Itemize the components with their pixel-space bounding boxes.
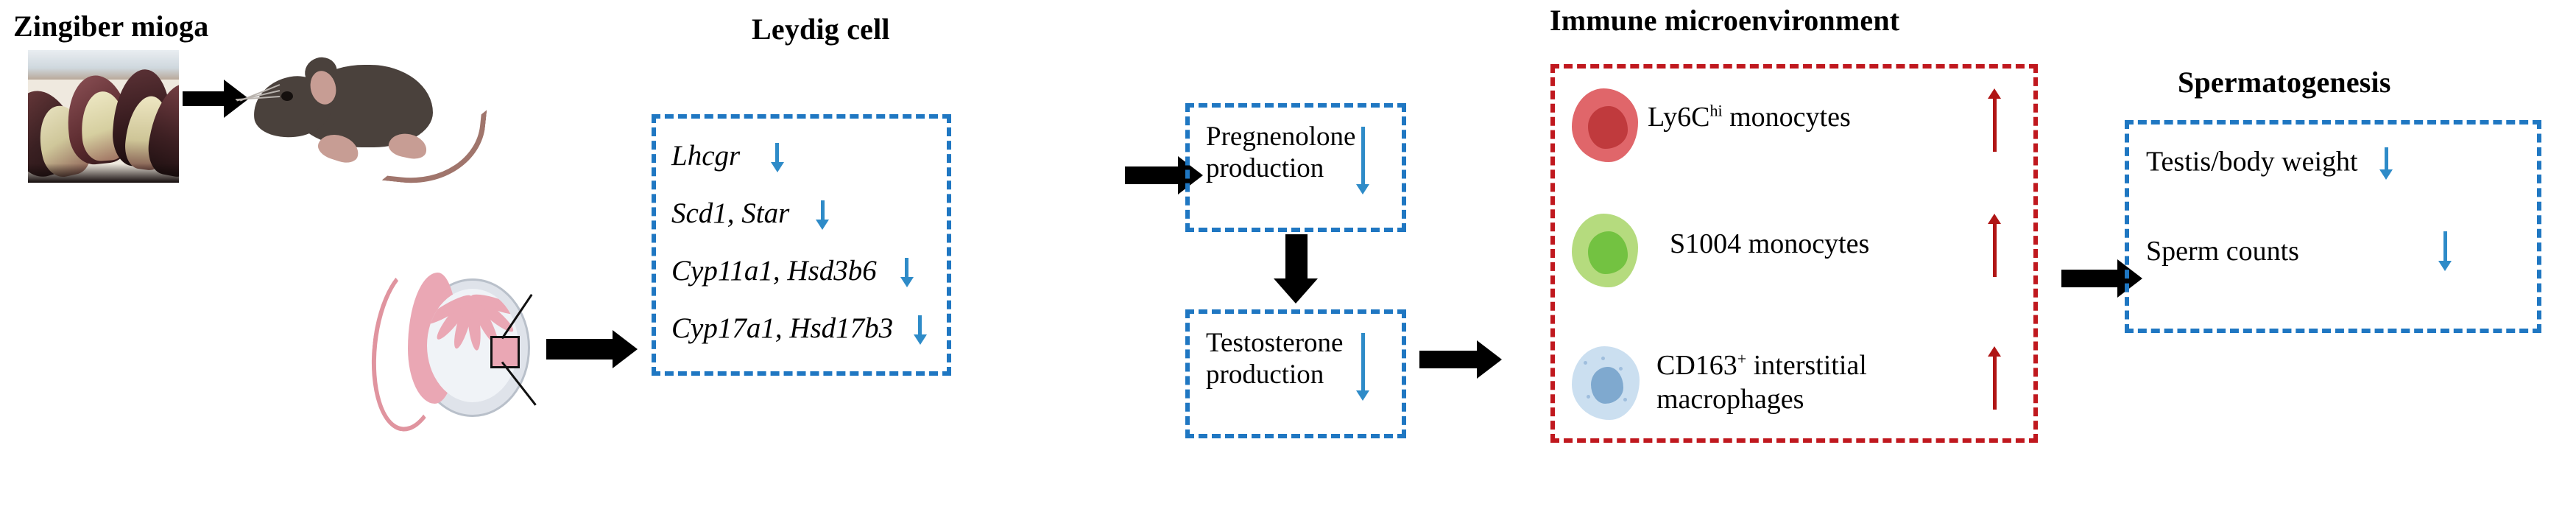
testis-illustration [367,243,551,464]
pregnenolone-line1: Pregnenolone [1206,122,1355,152]
down-arrow-icon [914,315,927,346]
cd163-macrophage-cell-icon [1572,346,1640,420]
figure-canvas: Zingiber mioga [0,0,2576,512]
leydig-row: Lhcgr [671,141,784,174]
immune-row-label-tail: interstitial [1746,350,1867,381]
immune-row-label: Ly6Chi monocytes [1648,103,1851,131]
heading-zingiber-mioga: Zingiber mioga [13,9,208,43]
spermatogenesis-row: Testis/body weight [2146,147,2393,181]
testosterone-line1: Testosterone [1206,328,1343,358]
up-arrow-icon [1988,346,2001,410]
s1004-monocyte-cell-icon [1572,214,1638,287]
leydig-row-genes: Cyp17a1, Hsd17b3 [671,312,893,344]
leydig-row: Cyp17a1, Hsd17b3 [671,314,927,346]
spermatogenesis-row: Sperm counts [2146,237,2299,265]
pregnenolone-line2: production [1206,153,1324,183]
immune-row-label: CD163+ interstitial macrophages [1656,349,1867,416]
mouse-eye [281,91,293,101]
leydig-row-genes: Scd1, Star [671,197,789,229]
arrow-testosterone-to-immune [1419,340,1506,379]
immune-row-label-main: S1004 monocytes [1670,228,1869,259]
immune-row-up-arrow-wrap [1988,88,2001,152]
leydig-row: Scd1, Star [671,199,829,231]
spermatogenesis-row-label: Testis/body weight [2146,147,2358,178]
down-arrow-icon [1356,127,1369,197]
down-arrow-icon [1356,333,1369,404]
ly6c-monocyte-cell-icon [1572,88,1638,162]
immune-row-label-main: Ly6C [1648,102,1709,133]
spermatogenesis-row-label: Sperm counts [2146,236,2299,267]
immune-row-up-arrow-wrap [1988,346,2001,410]
down-arrow-icon [816,200,829,231]
spermatogenesis-row-arrow-wrap [2438,231,2452,273]
immune-row-label-sup: + [1737,349,1746,368]
down-arrow-icon [900,258,914,289]
testosterone-line2: production [1206,360,1324,390]
pregnenolone-down-arrow-wrap [1356,127,1369,197]
immune-row-label-sup: hi [1709,101,1722,119]
photo-shadow [28,164,179,183]
immune-row-label-line2: macrophages [1656,384,1804,415]
up-arrow-icon [1988,214,2001,277]
immune-row-label-main: CD163 [1656,350,1737,381]
heading-leydig-cell: Leydig cell [752,12,890,46]
down-arrow-icon [771,143,784,174]
up-arrow-icon [1988,88,2001,152]
mouse-illustration [247,43,468,220]
pregnenolone-label: Pregnenolone production [1206,122,1355,184]
leydig-row-genes: Cyp11a1, Hsd3b6 [671,255,877,287]
immune-row-label: S1004 monocytes [1670,230,1869,258]
immune-row-up-arrow-wrap [1988,214,2001,277]
down-arrow-icon [2379,147,2393,181]
testosterone-down-arrow-wrap [1356,333,1369,404]
down-arrow-icon [2438,231,2452,273]
immune-row-label-tail: monocytes [1723,102,1851,133]
leydig-row: Cyp11a1, Hsd3b6 [671,256,914,289]
leydig-row-genes: Lhcgr [671,140,740,172]
heading-spermatogenesis: Spermatogenesis [2178,65,2391,99]
heading-immune-microenvironment: Immune microenvironment [1550,3,1899,38]
testosterone-label: Testosterone production [1206,328,1343,390]
arrow-pregnenolone-to-testosterone [1274,234,1319,306]
zingiber-mioga-photo [28,50,179,183]
arrow-testis-to-leydig [546,330,642,368]
